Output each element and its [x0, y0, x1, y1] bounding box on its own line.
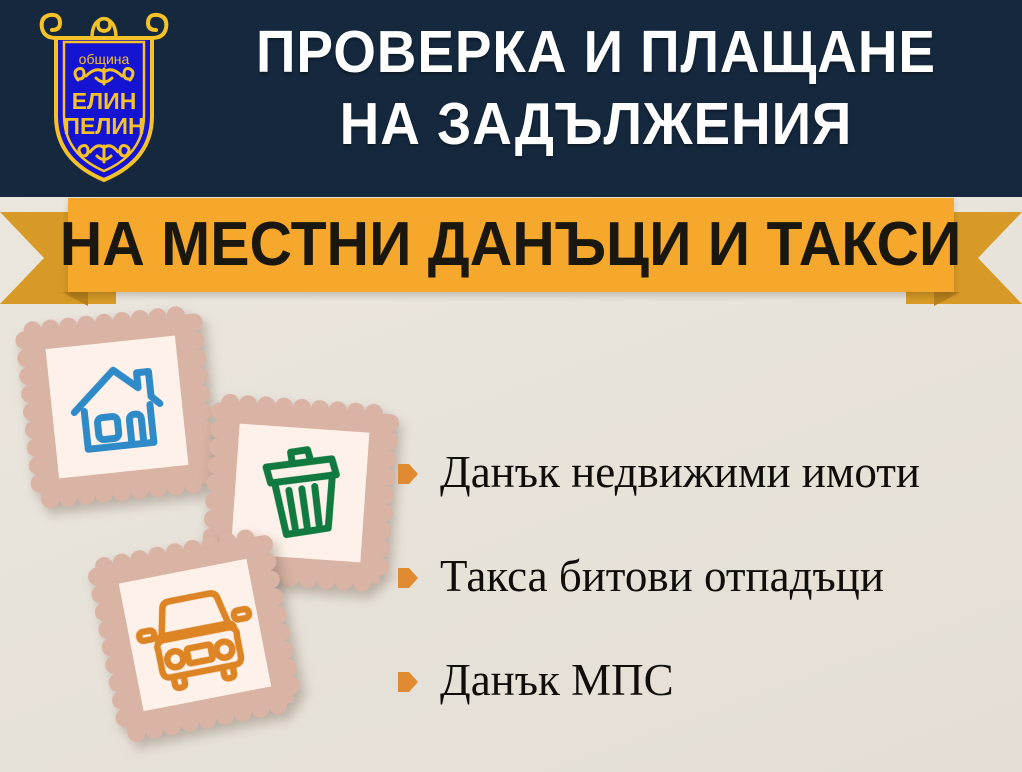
ribbon-subtitle: НА МЕСТНИ ДАНЪЦИ И ТАКСИ [60, 212, 962, 278]
arrow-bullet-icon [398, 462, 418, 486]
logo-name-line1: ЕЛИН [72, 88, 137, 114]
list-item[interactable]: Данък недвижими имоти [398, 420, 1008, 524]
ribbon-banner: НА МЕСТНИ ДАНЪЦИ И ТАКСИ [0, 196, 1022, 316]
stamp-card-vehicle [84, 524, 307, 747]
stamp-card-property [13, 303, 222, 512]
arrow-bullet-icon [398, 670, 418, 694]
list-item[interactable]: Такса битови отпадъци [398, 524, 1008, 628]
list-item[interactable]: Данък МПС [398, 628, 1008, 732]
list-item-label: Такса битови отпадъци [440, 550, 884, 602]
municipality-logo: община ЕЛИН ПЕЛИН [34, 8, 174, 188]
list-item-label: Данък МПС [440, 654, 674, 706]
logo-obshtina-text: община [79, 51, 130, 67]
page-title: ПРОВЕРКА И ПЛАЩАНЕ НА ЗАДЪЛЖЕНИЯ [215, 16, 978, 160]
ribbon-band: НА МЕСТНИ ДАНЪЦИ И ТАКСИ [68, 198, 954, 292]
header-bar: община ЕЛИН ПЕЛИН [0, 0, 1022, 197]
poster-canvas: община ЕЛИН ПЕЛИН [0, 0, 1022, 772]
list-item-label: Данък недвижими имоти [440, 446, 920, 498]
arrow-bullet-icon [398, 566, 418, 590]
logo-name-line2: ПЕЛИН [63, 113, 144, 139]
obligations-list: Данък недвижими имоти Такса битови отпад… [398, 420, 1008, 732]
stamp-inner-panel [46, 336, 189, 479]
